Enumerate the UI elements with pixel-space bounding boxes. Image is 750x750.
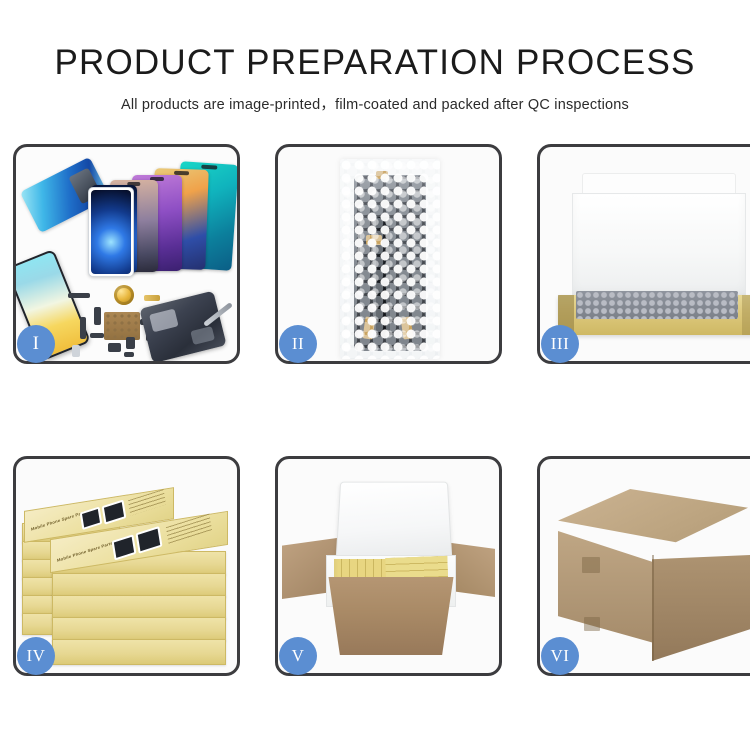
box-label-screen-thumb bbox=[102, 500, 127, 525]
header: PRODUCT PREPARATION PROCESS All products… bbox=[0, 0, 750, 114]
box-label-screen-thumb bbox=[136, 526, 163, 554]
camera-ring-icon bbox=[114, 285, 134, 305]
screw-grid-icon bbox=[104, 312, 140, 340]
process-step-grid: I II bbox=[13, 144, 737, 676]
carton-left-face bbox=[558, 531, 654, 643]
carton-right-face bbox=[652, 555, 750, 661]
component-part bbox=[90, 333, 104, 338]
bubble-bag-image bbox=[278, 147, 499, 361]
box-label-screen-thumb bbox=[112, 534, 137, 560]
step-badge-5: V bbox=[279, 637, 317, 675]
carton-corner-seam bbox=[652, 555, 654, 661]
process-step-2: II bbox=[275, 144, 502, 364]
component-part bbox=[126, 337, 135, 349]
component-part bbox=[108, 343, 121, 352]
process-step-3: III bbox=[537, 144, 750, 364]
step-badge-3: III bbox=[541, 325, 579, 363]
box-label-text: Mobile Phone Spare Parts bbox=[31, 509, 88, 531]
foam-sheet bbox=[572, 193, 746, 299]
step-badge-2: II bbox=[279, 325, 317, 363]
stacked-boxes-image: Mobile Phone Spare Parts Mobile Phone Sp… bbox=[16, 459, 237, 673]
carton-body bbox=[320, 577, 462, 655]
component-part bbox=[94, 307, 101, 325]
stacked-box-edge bbox=[52, 639, 226, 665]
phone-back-housing bbox=[139, 291, 226, 361]
stacked-box-edge bbox=[52, 573, 226, 597]
component-part bbox=[144, 295, 160, 301]
carton-foam-image bbox=[278, 459, 499, 673]
page-title: PRODUCT PREPARATION PROCESS bbox=[0, 42, 750, 84]
box-assembly bbox=[550, 165, 750, 343]
component-part bbox=[80, 317, 86, 339]
process-step-5: V bbox=[275, 456, 502, 676]
styrofoam-lid bbox=[336, 482, 453, 560]
step-badge-1: I bbox=[17, 325, 55, 363]
box-side-right bbox=[742, 295, 750, 335]
component-part bbox=[124, 352, 134, 357]
component-part bbox=[68, 293, 90, 298]
box-label-text: Mobile Phone Spare Parts bbox=[57, 540, 114, 562]
product-preparation-infographic: PRODUCT PREPARATION PROCESS All products… bbox=[0, 0, 750, 750]
bubble-wrapped-contents bbox=[576, 291, 738, 319]
glass-inner bbox=[91, 190, 131, 274]
process-step-4: Mobile Phone Spare Parts Mobile Phone Sp… bbox=[13, 456, 240, 676]
box-label-lines bbox=[128, 489, 166, 516]
bubble-wrap-bag bbox=[340, 159, 440, 359]
page-subtitle: All products are image-printed，film-coat… bbox=[0, 93, 750, 114]
process-step-6: VI bbox=[537, 456, 750, 676]
step-badge-4: IV bbox=[17, 637, 55, 675]
step-badge-6: VI bbox=[541, 637, 579, 675]
tempered-glass-protector bbox=[88, 187, 134, 277]
process-step-1: I bbox=[13, 144, 240, 364]
bubble-highlight-texture bbox=[340, 159, 440, 359]
component-part bbox=[72, 345, 80, 357]
stacked-box-edge bbox=[52, 595, 226, 619]
stacked-box-edge bbox=[52, 617, 226, 641]
parts-collage-image bbox=[16, 147, 237, 361]
carton-tape-patch bbox=[582, 557, 600, 573]
carton-tape-patch bbox=[584, 617, 600, 631]
